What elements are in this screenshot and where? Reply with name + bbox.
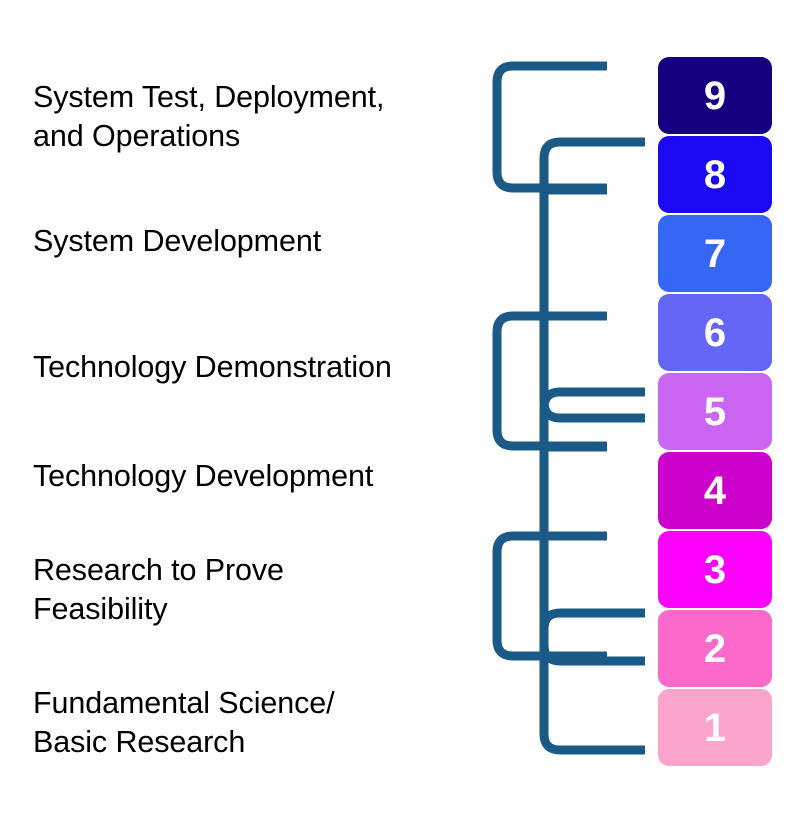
trl-number-7: 7: [704, 234, 726, 274]
stage-label-fundamental-science-basic-research: Fundamental Science/ Basic Research: [33, 684, 488, 763]
stage-label-technology-demonstration: Technology Demonstration: [33, 348, 488, 387]
trl-number-1: 1: [704, 708, 726, 748]
trl-number-6: 6: [704, 313, 726, 353]
stage-label-system-test-deployment-operations: System Test, Deployment, and Operations: [33, 78, 488, 157]
trl-diagram: System Test, Deployment, and Operations …: [0, 0, 800, 828]
trl-block-7[interactable]: 7: [658, 215, 772, 292]
trl-number-5: 5: [704, 392, 726, 432]
trl-block-3[interactable]: 3: [658, 531, 772, 608]
trl-number-2: 2: [704, 629, 726, 669]
trl-block-9[interactable]: 9: [658, 57, 772, 134]
bracket-inner-top: [544, 142, 645, 418]
bracket-outer-top: [497, 66, 607, 188]
trl-number-8: 8: [704, 155, 726, 195]
trl-block-6[interactable]: 6: [658, 294, 772, 371]
trl-block-4[interactable]: 4: [658, 452, 772, 529]
stage-label-column: System Test, Deployment, and Operations …: [0, 0, 490, 828]
trl-level-stack: 9 8 7 6 5 4 3 2 1: [658, 57, 772, 768]
trl-block-8[interactable]: 8: [658, 136, 772, 213]
trl-block-1[interactable]: 1: [658, 689, 772, 766]
bracket-outer-middle: [497, 316, 607, 446]
bracket-outer-bottom: [497, 536, 607, 656]
stage-label-system-development: System Development: [33, 222, 488, 261]
stage-label-research-to-prove-feasibility: Research to Prove Feasibility: [33, 551, 488, 630]
trl-block-2[interactable]: 2: [658, 610, 772, 687]
trl-block-5[interactable]: 5: [658, 373, 772, 450]
trl-number-9: 9: [704, 76, 726, 116]
bracket-inner-middle: [544, 392, 645, 661]
trl-number-4: 4: [704, 471, 726, 511]
stage-label-technology-development: Technology Development: [33, 457, 488, 496]
bracket-inner-bottom: [544, 613, 645, 750]
trl-number-3: 3: [704, 550, 726, 590]
